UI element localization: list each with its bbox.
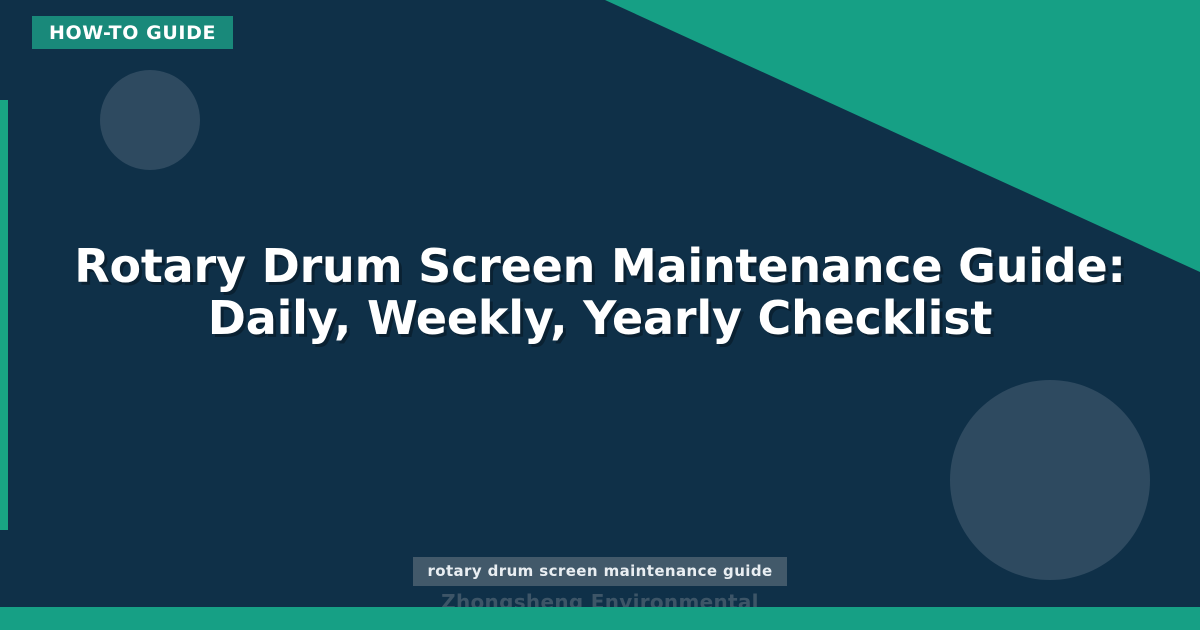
page-title-line-2: Daily, Weekly, Yearly Checklist [60, 292, 1140, 344]
decorative-circle-bottom-right [950, 380, 1150, 580]
bottom-accent-bar [0, 607, 1200, 630]
category-badge: HOW-TO GUIDE [32, 16, 233, 49]
category-badge-label: HOW-TO GUIDE [49, 22, 216, 44]
keyword-tag-container: rotary drum screen maintenance guide [0, 557, 1200, 586]
decorative-circle-top-left [100, 70, 200, 170]
page-title-line-1: Rotary Drum Screen Maintenance Guide: [60, 240, 1140, 292]
page-title: Rotary Drum Screen Maintenance Guide: Da… [0, 240, 1200, 344]
keyword-tag: rotary drum screen maintenance guide [413, 557, 786, 586]
social-card-canvas: HOW-TO GUIDE Rotary Drum Screen Maintena… [0, 0, 1200, 630]
